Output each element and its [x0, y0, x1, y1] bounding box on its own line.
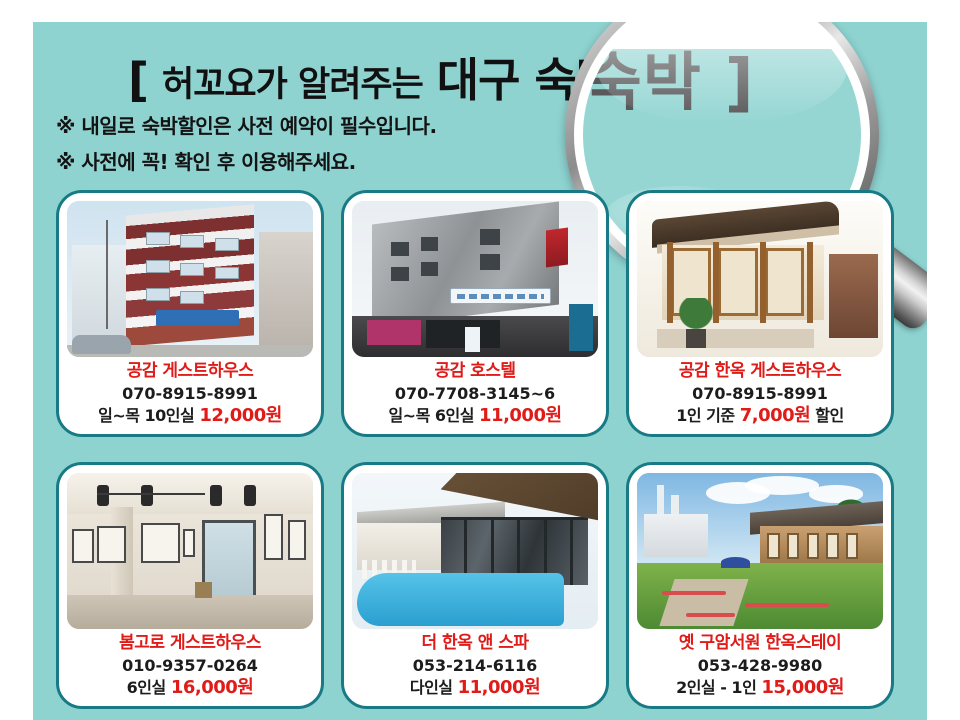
lodging-card[interactable]: 공감 게스트하우스 070-8915-8991 일~목 10인실 12,000원: [56, 190, 324, 437]
lodging-photo: [352, 473, 598, 629]
page-title: [ 허꼬요가 알려주는 대구 숙박 ]: [128, 44, 651, 110]
price-amount: 11,000원: [479, 405, 562, 426]
price-amount: 12,000원: [199, 405, 282, 426]
lodging-phone[interactable]: 070-7708-3145~6: [344, 384, 606, 404]
lodging-name: 더 한옥 앤 스파: [344, 633, 606, 654]
price-prefix: 다인실: [410, 678, 453, 697]
lodging-info: 공감 게스트하우스 070-8915-8991 일~목 10인실 12,000원: [59, 361, 321, 427]
price-prefix: 2인실 - 1인: [676, 678, 756, 697]
lodging-name: 공감 게스트하우스: [59, 361, 321, 382]
lodging-phone[interactable]: 070-8915-8991: [59, 384, 321, 404]
lodging-phone[interactable]: 070-8915-8991: [629, 384, 891, 404]
lodging-card[interactable]: 봄고로 게스트하우스 010-9357-0264 6인실 16,000원: [56, 462, 324, 709]
lodging-name: 공감 호스텔: [344, 361, 606, 382]
poster-header: [ 허꼬요가 알려주는 대구 숙박 ] ※ 내일로 숙박할인은 사전 예약이 필…: [33, 22, 927, 174]
price-amount: 16,000원: [171, 677, 254, 698]
lodging-photo: [67, 201, 313, 357]
price-prefix: 6인실: [127, 678, 166, 697]
title-prefix: 허꼬요가 알려주는: [162, 65, 423, 105]
price-suffix: 할인: [815, 406, 843, 425]
lodging-price: 1인 기준 7,000원 할인: [629, 405, 891, 427]
price-prefix: 일~목 10인실: [98, 406, 194, 425]
lodging-price: 6인실 16,000원: [59, 677, 321, 699]
lodging-photo: [352, 201, 598, 357]
price-amount: 11,000원: [458, 677, 541, 698]
lodging-photo: [637, 473, 883, 629]
lodging-card[interactable]: 옛 구암서원 한옥스테이 053-428-9980 2인실 - 1인 15,00…: [626, 462, 894, 709]
lodging-photo: [67, 473, 313, 629]
title-highlight: 대구 숙박: [437, 53, 617, 107]
lodging-info: 더 한옥 앤 스파 053-214-6116 다인실 11,000원: [344, 633, 606, 699]
lodging-card[interactable]: 공감 호스텔 070-7708-3145~6 일~목 6인실 11,000원: [341, 190, 609, 437]
lodging-name: 봄고로 게스트하우스: [59, 633, 321, 654]
lodging-info: 공감 한옥 게스트하우스 070-8915-8991 1인 기준 7,000원 …: [629, 361, 891, 427]
lodging-photo: [637, 201, 883, 357]
lodging-price: 일~목 10인실 12,000원: [59, 405, 321, 427]
lodging-name: 옛 구암서원 한옥스테이: [629, 633, 891, 654]
lodging-info: 옛 구암서원 한옥스테이 053-428-9980 2인실 - 1인 15,00…: [629, 633, 891, 699]
lodging-card[interactable]: 공감 한옥 게스트하우스 070-8915-8991 1인 기준 7,000원 …: [626, 190, 894, 437]
notice-line-1: ※ 내일로 숙박할인은 사전 예약이 필수입니다.: [56, 110, 437, 139]
notice-line-2: ※ 사전에 꼭! 확인 후 이용해주세요.: [56, 146, 356, 175]
lodging-price: 다인실 11,000원: [344, 677, 606, 699]
price-amount: 7,000원: [740, 405, 811, 426]
lodging-phone[interactable]: 053-214-6116: [344, 656, 606, 676]
lodging-info: 공감 호스텔 070-7708-3145~6 일~목 6인실 11,000원: [344, 361, 606, 427]
lodging-name: 공감 한옥 게스트하우스: [629, 361, 891, 382]
price-prefix: 일~목 6인실: [388, 406, 474, 425]
lodging-info: 봄고로 게스트하우스 010-9357-0264 6인실 16,000원: [59, 633, 321, 699]
lodging-card[interactable]: 더 한옥 앤 스파 053-214-6116 다인실 11,000원: [341, 462, 609, 709]
price-amount: 15,000원: [761, 677, 844, 698]
lodging-price: 2인실 - 1인 15,000원: [629, 677, 891, 699]
title-open-bracket: [: [128, 53, 148, 107]
poster-panel: [ 허꼬요가 알려주는 대구 숙박 ] ※ 내일로 숙박할인은 사전 예약이 필…: [33, 22, 927, 720]
lodging-card-grid: 공감 게스트하우스 070-8915-8991 일~목 10인실 12,000원: [56, 190, 927, 720]
lodging-phone[interactable]: 053-428-9980: [629, 656, 891, 676]
title-close-bracket: ]: [631, 53, 651, 107]
lodging-price: 일~목 6인실 11,000원: [344, 405, 606, 427]
lodging-phone[interactable]: 010-9357-0264: [59, 656, 321, 676]
price-prefix: 1인 기준: [676, 406, 734, 425]
